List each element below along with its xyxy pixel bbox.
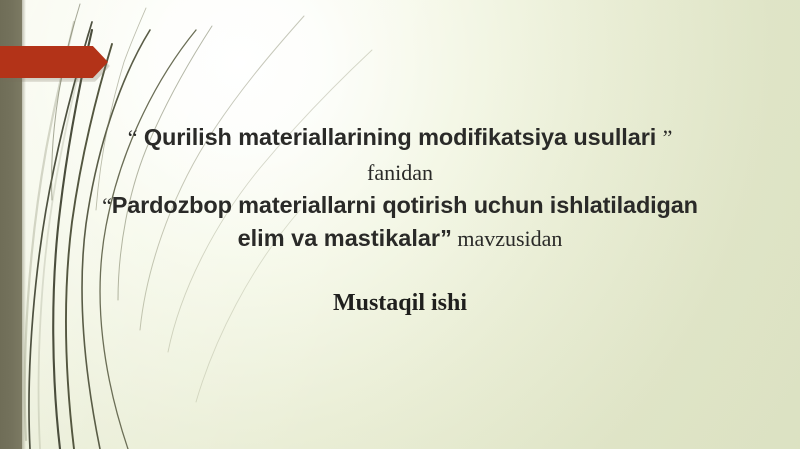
title-text-block: “ Qurilish materiallarining modifikatsiy… — [0, 0, 800, 449]
closing-quote-1: ” — [663, 125, 673, 150]
work-type-label: Mustaqil ishi — [0, 290, 800, 317]
opening-quote-1: “ — [128, 125, 138, 150]
subject-label: fanidan — [0, 160, 800, 186]
title-line-3-text: Pardozbop materiallarni qotirish uchun i… — [112, 192, 698, 218]
title-line-1: “ Qurilish materiallarining modifikatsiy… — [0, 124, 800, 151]
topic-label: mavzusidan — [452, 226, 563, 251]
title-line-3: “Pardozbop materiallarni qotirish uchun … — [0, 192, 800, 219]
presentation-slide: “ Qurilish materiallarining modifikatsiy… — [0, 0, 800, 449]
title-line-1-text: Qurilish materiallarining modifikatsiya … — [137, 124, 662, 150]
title-line-4: elim va mastikalar” mavzusidan — [0, 225, 800, 252]
opening-quote-2: “ — [102, 193, 112, 218]
title-line-4-bold: elim va mastikalar” — [238, 225, 452, 251]
